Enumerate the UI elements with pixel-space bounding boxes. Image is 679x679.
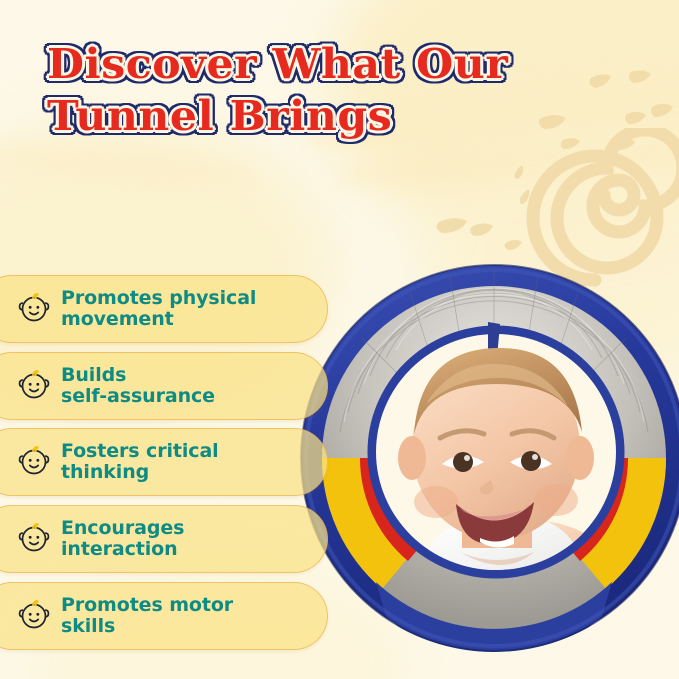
feature-item-label: Promotes physical movement xyxy=(61,288,256,330)
feature-item-label: Builds self-assurance xyxy=(61,365,215,407)
baby-face-icon xyxy=(17,292,51,326)
baby-face-icon xyxy=(17,599,51,633)
baby-face-icon xyxy=(17,522,51,556)
baby-face-icon xyxy=(17,445,51,479)
baby-face-icon xyxy=(17,369,51,403)
feature-item-label: Fosters critical thinking xyxy=(61,441,219,483)
feature-item-label: Promotes motor skills xyxy=(61,595,233,637)
feature-item-3[interactable]: Fosters critical thinking xyxy=(0,428,328,496)
feature-item-label: Encourages interaction xyxy=(61,518,184,560)
feature-item-1[interactable]: Promotes physical movement xyxy=(0,275,328,343)
feature-item-4[interactable]: Encourages interaction xyxy=(0,505,328,573)
feature-item-2[interactable]: Builds self-assurance xyxy=(0,352,328,420)
feature-list: Promotes physical movement Builds self-a… xyxy=(0,0,679,679)
feature-item-5[interactable]: Promotes motor skills xyxy=(0,582,328,650)
infographic-canvas: Discover What Our Tunnel Brings xyxy=(0,0,679,679)
